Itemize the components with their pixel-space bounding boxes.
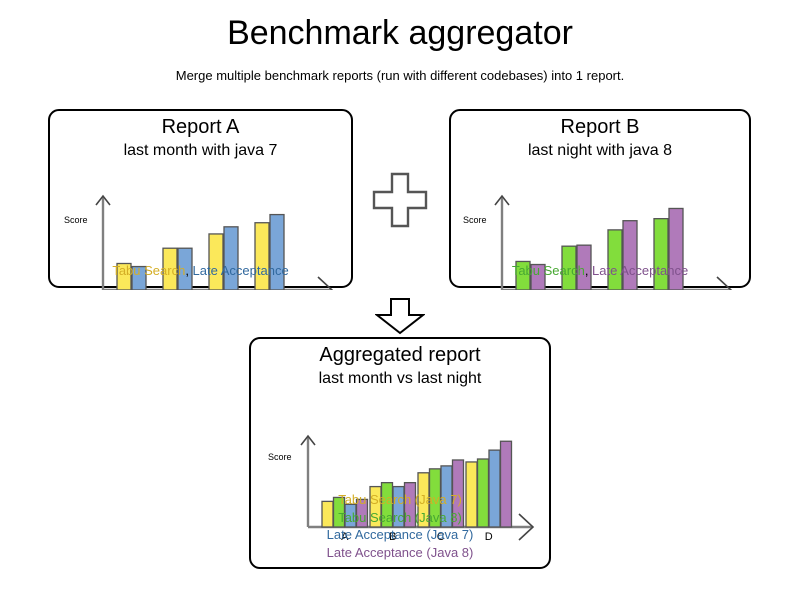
aggregated-report-panel: Aggregated report last month vs last nig… (249, 337, 551, 569)
plus-icon (372, 172, 428, 228)
page-subtitle: Merge multiple benchmark reports (run wi… (0, 68, 800, 83)
y-axis-label: Score (64, 215, 88, 225)
legend-separator: , (185, 263, 192, 278)
bar (224, 227, 238, 290)
legend-item-tabu-search: Tabu Search (112, 263, 185, 278)
report-b-title: Report B (451, 116, 749, 139)
bar (608, 230, 622, 290)
page-title: Benchmark aggregator (0, 14, 800, 53)
report-b-panel: Report B last night with java 8 ScoreABC… (449, 109, 751, 288)
legend-item-tabu-search: Tabu Search (512, 263, 585, 278)
legend-item-late-acceptance-java8: Late Acceptance (Java 8) (251, 544, 549, 562)
report-b-subtitle: last night with java 8 (451, 142, 749, 160)
arrow-down-icon (375, 297, 425, 335)
report-b-legend: Tabu Search, Late Acceptance (451, 263, 749, 278)
legend-item-tabu-search-java7: Tabu Search (Java 7) (251, 491, 549, 509)
legend-item-late-acceptance-java7: Late Acceptance (Java 7) (251, 526, 549, 544)
bar (255, 223, 269, 290)
report-a-legend: Tabu Search, Late Acceptance (50, 263, 351, 278)
legend-item-late-acceptance: Late Acceptance (592, 263, 688, 278)
report-a-panel: Report A last month with java 7 ScoreABC… (48, 109, 353, 288)
y-axis-label: Score (463, 215, 487, 225)
bar (623, 221, 637, 290)
legend-separator: , (585, 263, 592, 278)
report-a-title: Report A (50, 116, 351, 139)
legend-item-tabu-search-java8: Tabu Search (Java 8) (251, 509, 549, 527)
bar (654, 219, 668, 290)
legend-item-late-acceptance: Late Acceptance (193, 263, 289, 278)
y-axis-label: Score (268, 452, 292, 462)
aggregated-legend: Tabu Search (Java 7) Tabu Search (Java 8… (251, 491, 549, 561)
aggregated-title: Aggregated report (251, 344, 549, 367)
bar (270, 215, 284, 290)
report-a-subtitle: last month with java 7 (50, 142, 351, 160)
bar (209, 234, 223, 290)
aggregated-subtitle: last month vs last night (251, 370, 549, 388)
